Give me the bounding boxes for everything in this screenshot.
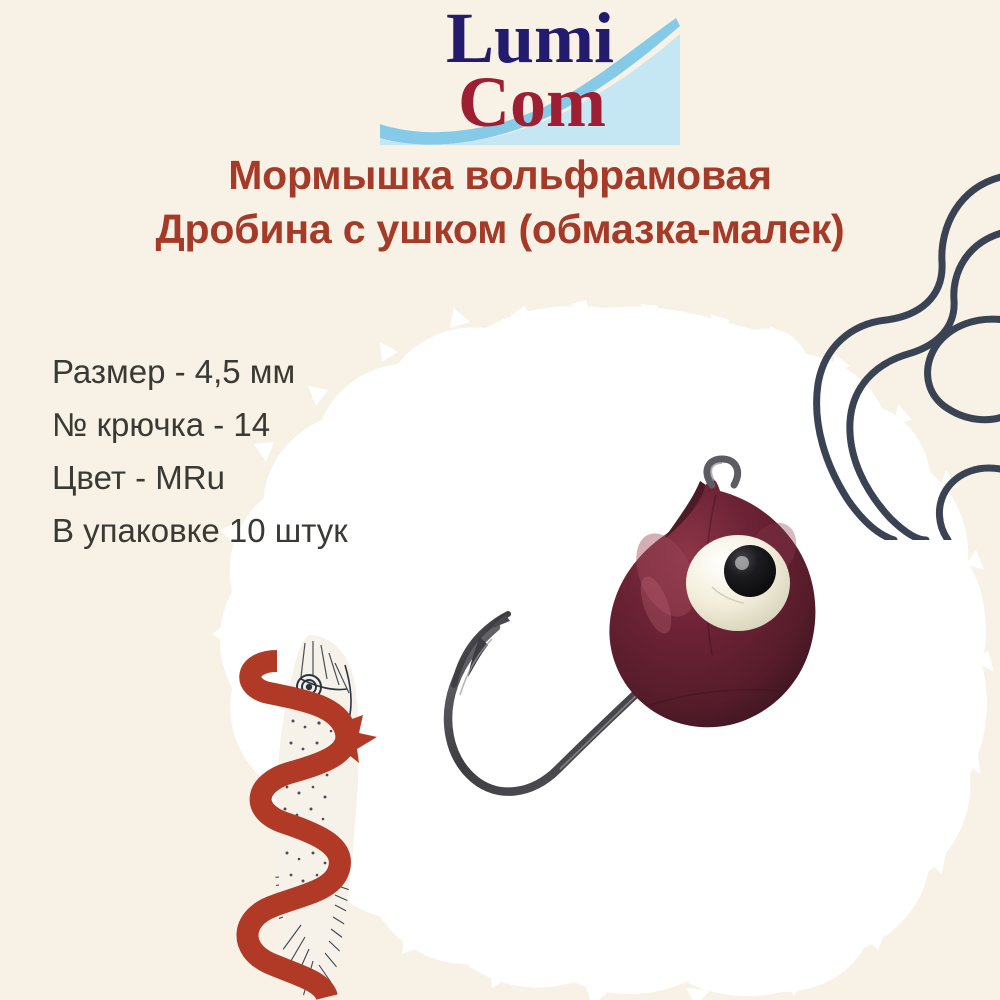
- product-title: Мормышка вольфрамовая Дробина с ушком (о…: [0, 148, 1000, 256]
- spec-color: Цвет - MRu: [52, 451, 522, 504]
- stylized-fish-illustration: [205, 625, 430, 1000]
- spec-size: Размер - 4,5 мм: [52, 345, 522, 398]
- spec-pack-quantity: В упаковке 10 штук: [52, 504, 522, 557]
- jig-eyelet: [707, 459, 738, 485]
- product-title-line-1: Мормышка вольфрамовая: [0, 148, 1000, 202]
- wave-line-2: [850, 232, 1000, 540]
- product-specs: Размер - 4,5 мм № крючка - 14 Цвет - MRu…: [52, 345, 522, 557]
- jig-eye-pupil: [724, 545, 776, 597]
- wave-line-4: [939, 468, 1000, 540]
- spec-hook-number: № крючка - 14: [52, 398, 522, 451]
- logo-text-com: Com: [458, 62, 606, 142]
- jig-eye: [686, 535, 790, 631]
- product-image-canvas: Lumi Com Мормышка вольфрамовая Дробина с…: [0, 0, 1000, 1000]
- lumicom-logo: Lumi Com: [380, 0, 680, 145]
- product-title-line-2: Дробина с ушком (обмазка-малек): [0, 202, 1000, 256]
